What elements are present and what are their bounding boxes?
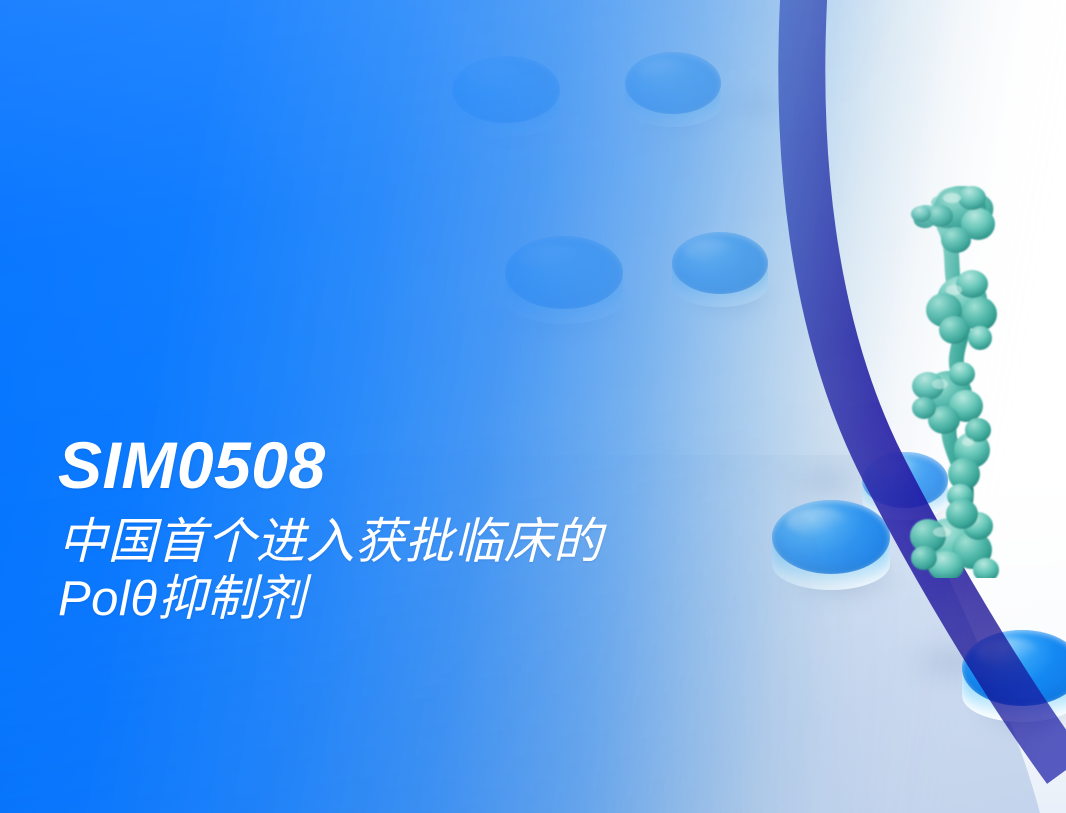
subtitle-line-1: 中国首个进入获批临床的 <box>58 514 878 571</box>
brand-gradient-overlay-vertical <box>0 0 1066 813</box>
headline-block: SIM0508 中国首个进入获批临床的 Polθ抑制剂 <box>58 432 878 628</box>
subtitle-line-2: Polθ抑制剂 <box>58 571 878 628</box>
sim0508-promo-banner: SIM0508 中国首个进入获批临床的 Polθ抑制剂 <box>0 0 1066 813</box>
product-name: SIM0508 <box>58 432 878 498</box>
